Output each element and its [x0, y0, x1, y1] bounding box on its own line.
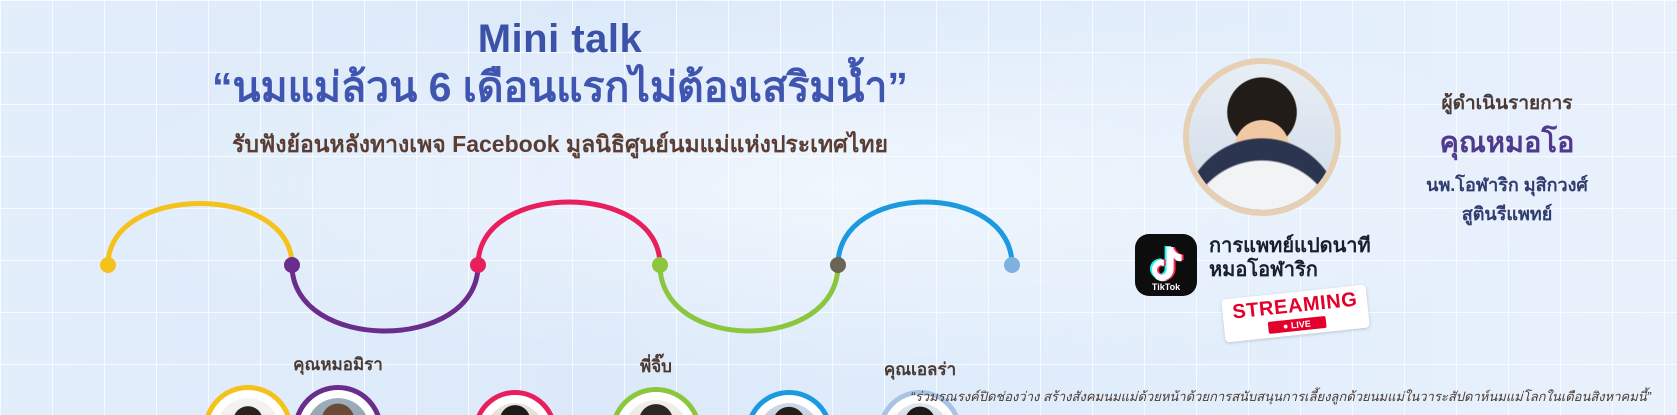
speaker-card-1[interactable]: คุณหมอวิน	[203, 385, 293, 415]
tiktok-wordmark: TikTok	[1135, 282, 1197, 292]
host-nickname: คุณหมอโอ	[1357, 119, 1657, 165]
host-role: ผู้ดำเนินรายการ	[1357, 88, 1657, 118]
speaker-card-2[interactable]: คุณหมอมิรา	[293, 385, 383, 415]
chain-node	[652, 257, 668, 273]
tiktok-icon[interactable]: TikTok	[1135, 234, 1197, 296]
chain-node	[1004, 257, 1020, 273]
speaker-name-6: คุณเอลร่า	[884, 356, 956, 383]
chain-node	[830, 257, 846, 273]
headline-block: Mini talk “นมแม่ล้วน 6 เดือนแรกไม่ต้องเส…	[0, 18, 1120, 163]
chain-node	[284, 257, 300, 273]
speaker-name-2: คุณหมอมิรา	[293, 351, 383, 378]
streaming-badge: STREAMING ● LIVE	[1221, 285, 1370, 343]
host-specialty: สูตินรีแพทย์	[1357, 199, 1657, 228]
channel-name-line2: หมอโอฬาริก	[1209, 258, 1371, 282]
speaker-chain: วิทยากร คุณหมอวิน คุณหมอมิรา	[0, 175, 1060, 350]
promo-banner: Mini talk “นมแม่ล้วน 6 เดือนแรกไม่ต้องเส…	[0, 0, 1677, 415]
speaker-name-4: พี่จิ๊บ	[640, 353, 672, 380]
kicker-text: Mini talk	[0, 18, 1120, 60]
subtitle-text: รับฟังย้อนหลังทางเพจ Facebook มูลนิธิศูน…	[0, 127, 1120, 163]
chain-arcs	[0, 175, 1060, 350]
host-photo	[1189, 64, 1335, 210]
speaker-card-3[interactable]: พี่วาสนา	[473, 390, 557, 415]
host-avatar	[1183, 58, 1341, 216]
speaker-photo-3	[486, 403, 544, 415]
speaker-card-4[interactable]: พี่จิ๊บ	[610, 387, 702, 415]
host-fullname: นพ.โอฬาริก มุสิกวงศ์	[1357, 170, 1657, 199]
page-title: “นมแม่ล้วน 6 เดือนแรกไม่ต้องเสริมน้ำ”	[0, 62, 1120, 113]
footer-note: “ร่วมรณรงค์ปิดช่องว่าง สร้างสังคมนมแม่ด้…	[910, 386, 1651, 407]
chain-node	[470, 257, 486, 273]
speaker-photo-2	[306, 398, 370, 415]
channel-name-line1: การแพทย์แปดนาที	[1209, 234, 1371, 258]
channel-block[interactable]: TikTok การแพทย์แปดนาที หมอโอฬาริก STREAM…	[1135, 230, 1675, 310]
host-panel: ผู้ดำเนินรายการ คุณหมอโอ นพ.โอฬาริก มุสิ…	[1117, 0, 1677, 415]
speaker-photo-5	[758, 403, 820, 415]
speaker-photo-1	[216, 398, 280, 415]
channel-name: การแพทย์แปดนาที หมอโอฬาริก	[1209, 234, 1371, 283]
host-info: ผู้ดำเนินรายการ คุณหมอโอ นพ.โอฬาริก มุสิ…	[1357, 88, 1657, 228]
speaker-photo-4	[623, 400, 689, 415]
speaker-card-5[interactable]: คุณหมอจุ๋ง	[745, 390, 833, 415]
chain-node	[100, 257, 116, 273]
